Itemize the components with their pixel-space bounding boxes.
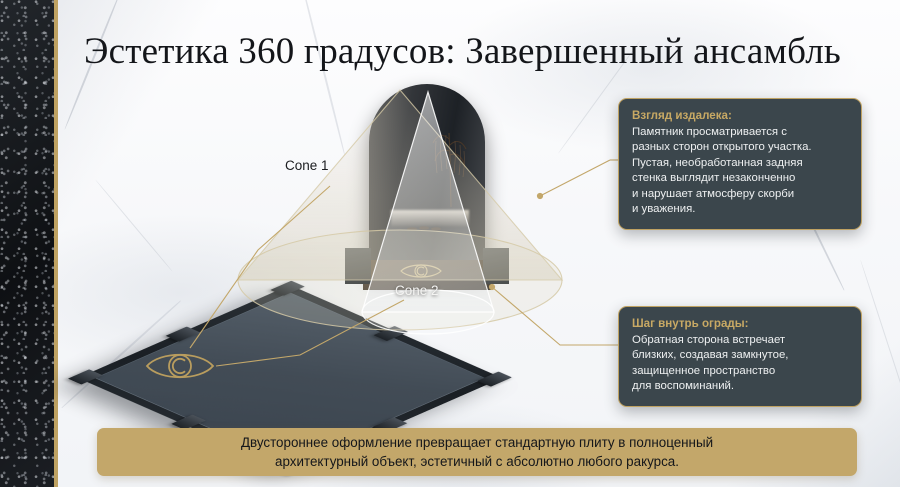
granite-side-band bbox=[0, 0, 54, 487]
gold-divider-stripe bbox=[54, 0, 58, 487]
cone-1-label: Cone 1 bbox=[285, 158, 329, 173]
willow-tree-engraving bbox=[425, 99, 469, 209]
callout-body: Обратная сторона встречает близких, созд… bbox=[632, 333, 848, 395]
birds-engraving bbox=[405, 222, 451, 234]
callout-title: Шаг внутрь ограды: bbox=[632, 316, 848, 332]
cone-2-label: Cone 2 bbox=[395, 283, 439, 298]
slide-root: Эстетика 360 градусов: Завершенный ансам… bbox=[0, 0, 900, 487]
engraved-artwork bbox=[387, 93, 471, 260]
callout-body: Памятник просматривается с разных сторон… bbox=[632, 125, 848, 218]
eye-copyright-icon-large bbox=[144, 348, 216, 384]
monument-stone bbox=[363, 84, 491, 289]
summary-banner: Двустороннее оформление превращает станд… bbox=[97, 428, 857, 476]
eye-copyright-icon bbox=[399, 261, 443, 281]
callout-title: Взгляд издалека: bbox=[632, 108, 848, 124]
fence-post bbox=[270, 281, 305, 296]
fence-post bbox=[477, 371, 512, 386]
callout-view-from-afar[interactable]: Взгляд издалека: Памятник просматриваетс… bbox=[618, 98, 862, 230]
page-title: Эстетика 360 градусов: Завершенный ансам… bbox=[84, 30, 874, 73]
summary-banner-text: Двустороннее оформление превращает станд… bbox=[241, 433, 713, 472]
callout-step-inside-fence[interactable]: Шаг внутрь ограды: Обратная сторона встр… bbox=[618, 306, 862, 407]
marble-vein bbox=[860, 260, 900, 422]
base-block-left bbox=[345, 248, 371, 284]
base-block-right bbox=[483, 248, 509, 284]
